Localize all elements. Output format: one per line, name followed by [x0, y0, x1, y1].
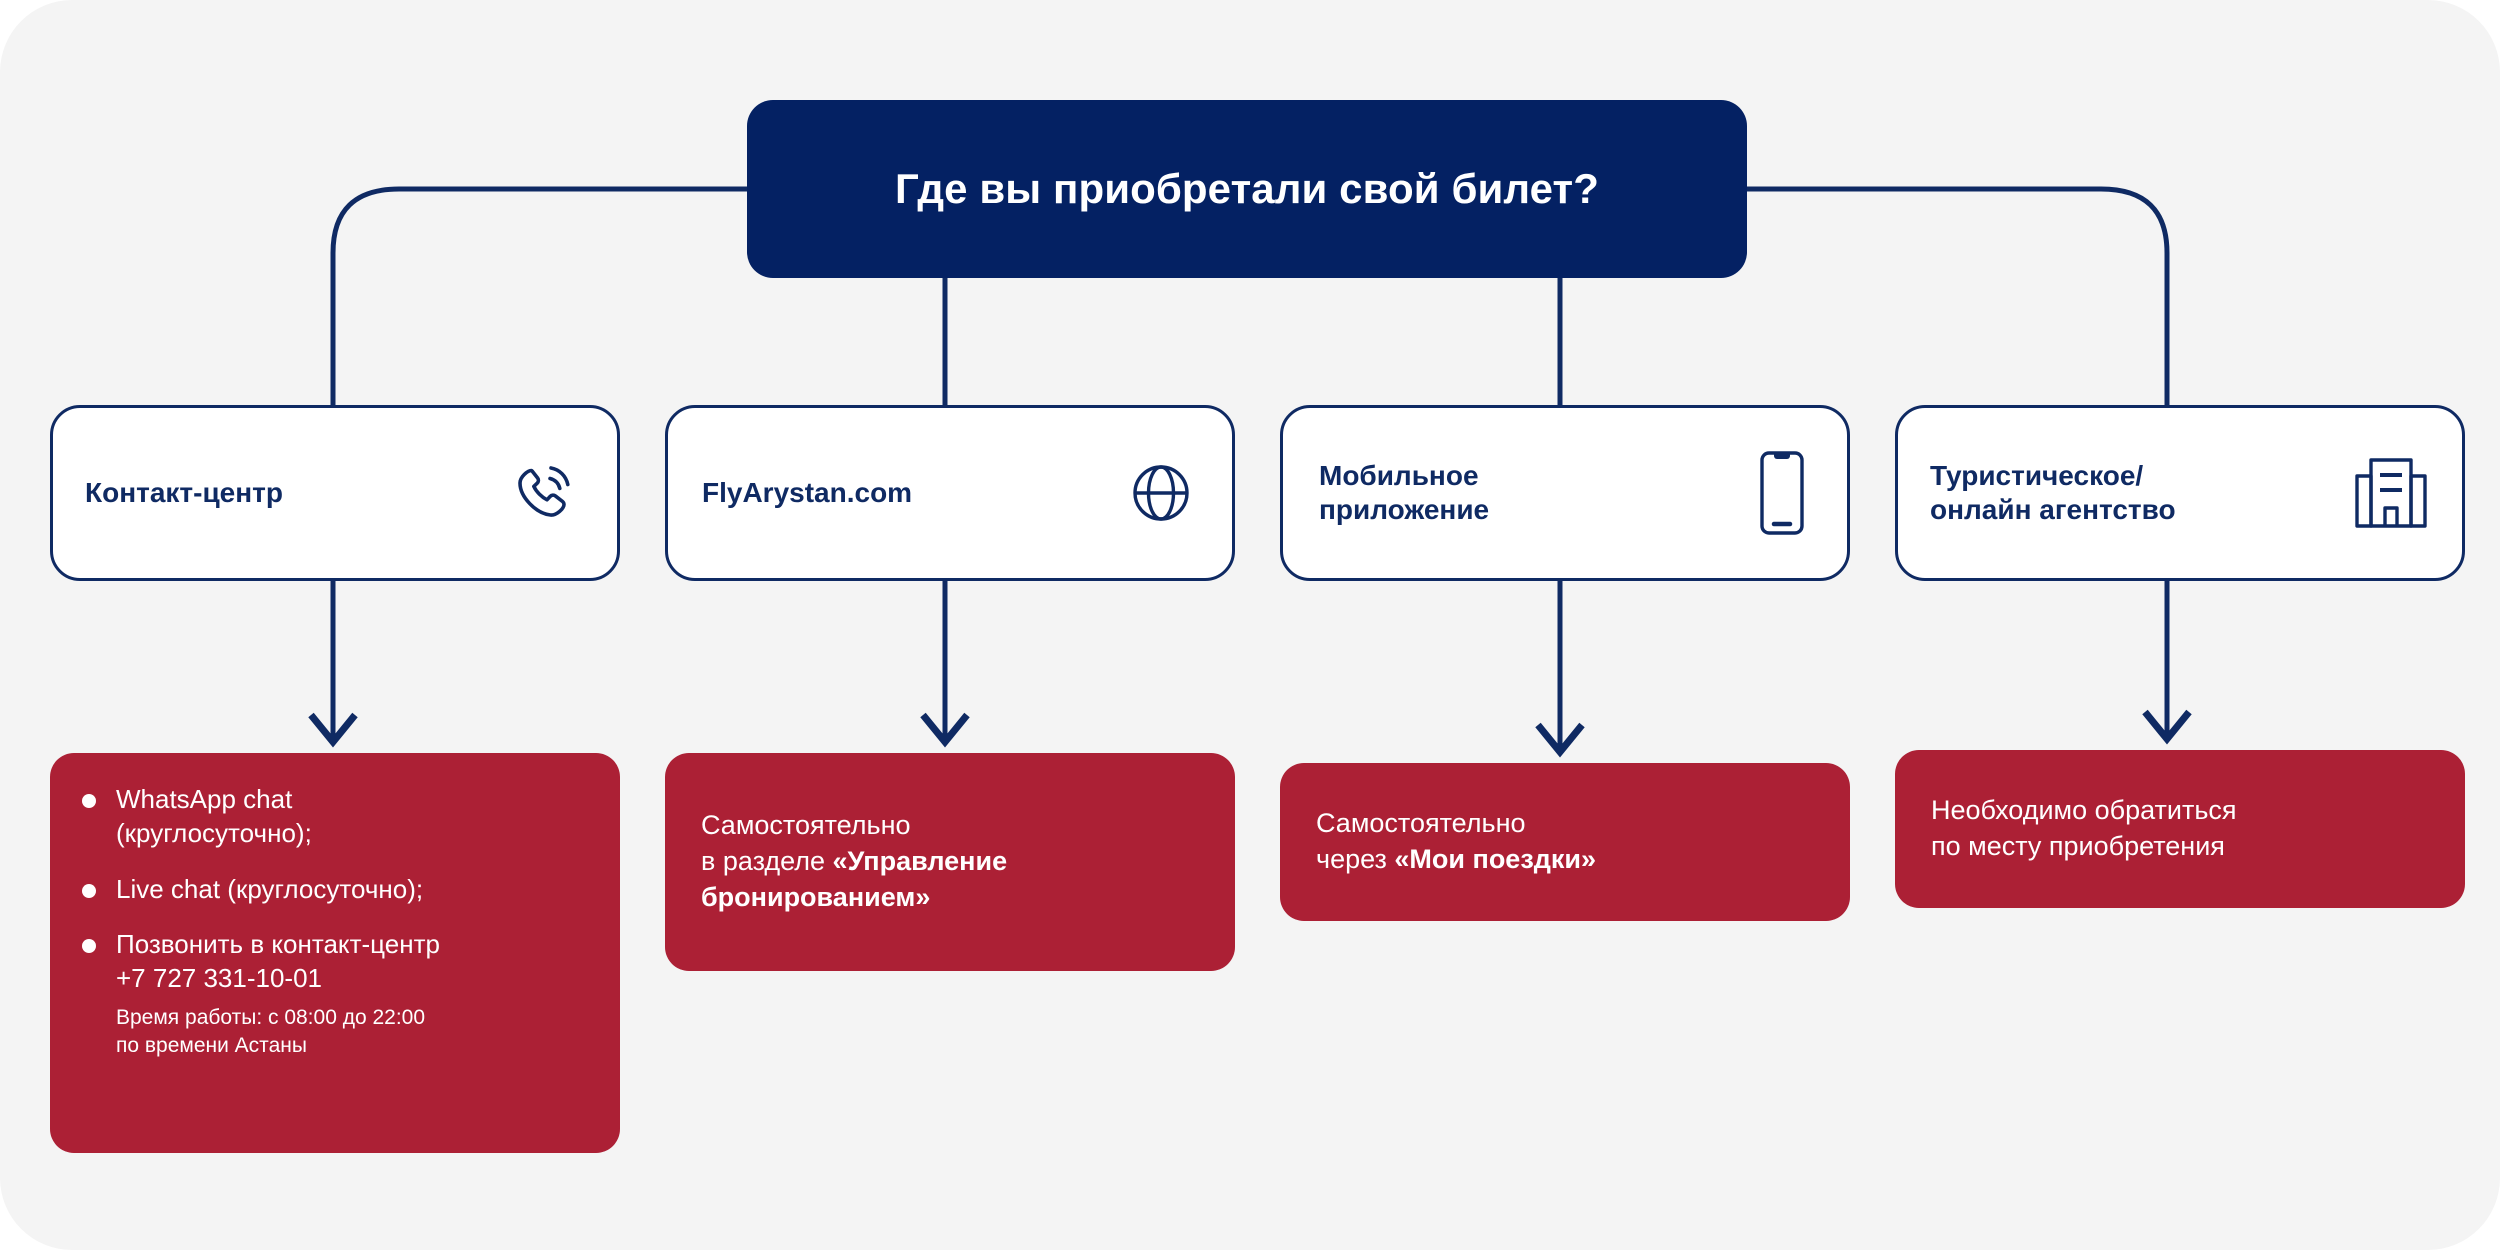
node-label-line2: онлайн агентство	[1930, 494, 2176, 525]
list-item-line1: Позвонить в контакт-центр	[116, 929, 440, 959]
bullet-dot-icon	[82, 939, 96, 953]
result-line2-bold: «Мои поездки»	[1394, 844, 1596, 874]
result-text: Самостоятельно в разделе «Управление бро…	[701, 808, 1007, 916]
result-line2-plain: через	[1316, 844, 1394, 874]
node-travel-agency[interactable]: Туристическое/ онлайн агентство	[1895, 405, 2465, 581]
list-item-line1: WhatsApp chat	[116, 784, 292, 814]
phone-call-icon	[507, 456, 581, 530]
page-title: Где вы приобретали свой билет?	[895, 165, 1599, 213]
node-label: Мобильное приложение	[1319, 459, 1489, 527]
node-label: FlyArystan.com	[702, 476, 912, 510]
globe-icon	[1126, 458, 1196, 528]
working-hours-line1: Время работы: с 08:00 до 22:00	[116, 1006, 425, 1029]
result-website: Самостоятельно в разделе «Управление бро…	[665, 753, 1235, 971]
working-hours-line2: по времени Астаны	[116, 1034, 307, 1057]
contact-options-list: WhatsApp chat (круглосуточно); Live chat…	[80, 783, 592, 1061]
bullet-dot-icon	[82, 884, 96, 898]
list-item-phone: +7 727 331-10-01	[116, 963, 322, 993]
result-text: Необходимо обратиться по месту приобрете…	[1931, 793, 2237, 865]
arrowhead-icon-2	[1538, 725, 1582, 752]
result-travel-agency: Необходимо обратиться по месту приобрете…	[1895, 750, 2465, 908]
list-item: Live chat (круглосуточно);	[80, 873, 592, 907]
list-item: Позвонить в контакт-центр +7 727 331-10-…	[80, 928, 592, 1060]
result-line2: по месту приобретения	[1931, 831, 2225, 861]
list-item-line2: (круглосуточно);	[116, 818, 312, 848]
result-line3-bold: бронированием»	[701, 882, 930, 912]
node-website[interactable]: FlyArystan.com	[665, 405, 1235, 581]
node-label: Контакт-центр	[85, 476, 283, 510]
node-mobile-app[interactable]: Мобильное приложение	[1280, 405, 1850, 581]
diagram-canvas: Где вы приобретали свой билет? Контакт-ц…	[0, 0, 2500, 1250]
connector-header-to-node-3	[1747, 189, 2167, 405]
node-label-line1: Туристическое/	[1930, 460, 2143, 491]
result-line2-bold: «Управление	[833, 846, 1008, 876]
arrowhead-icon-3	[2145, 712, 2189, 739]
arrowhead-icon-0	[311, 715, 355, 742]
office-building-icon	[2352, 454, 2432, 532]
node-contact-center[interactable]: Контакт-центр	[50, 405, 620, 581]
result-line1: Самостоятельно	[1316, 808, 1526, 838]
smartphone-icon	[1753, 449, 1811, 537]
list-item-line1: Live chat (круглосуточно);	[116, 874, 423, 904]
list-item: WhatsApp chat (круглосуточно);	[80, 783, 592, 851]
question-header: Где вы приобретали свой билет?	[747, 100, 1747, 278]
node-label-line1: Мобильное	[1319, 460, 1479, 491]
connector-header-to-node-0	[333, 189, 747, 405]
arrowhead-icon-1	[923, 715, 967, 742]
result-line1: Самостоятельно	[701, 810, 911, 840]
node-label-line2: приложение	[1319, 494, 1489, 525]
result-line2-plain: в разделе	[701, 846, 833, 876]
working-hours-note: Время работы: с 08:00 до 22:00 по времен…	[116, 1004, 592, 1061]
result-line1: Необходимо обратиться	[1931, 795, 2237, 825]
bullet-dot-icon	[82, 794, 96, 808]
result-contact-center: WhatsApp chat (круглосуточно); Live chat…	[50, 753, 620, 1153]
node-label: Туристическое/ онлайн агентство	[1930, 459, 2176, 527]
result-text: Самостоятельно через «Мои поездки»	[1316, 806, 1596, 878]
result-mobile-app: Самостоятельно через «Мои поездки»	[1280, 763, 1850, 921]
